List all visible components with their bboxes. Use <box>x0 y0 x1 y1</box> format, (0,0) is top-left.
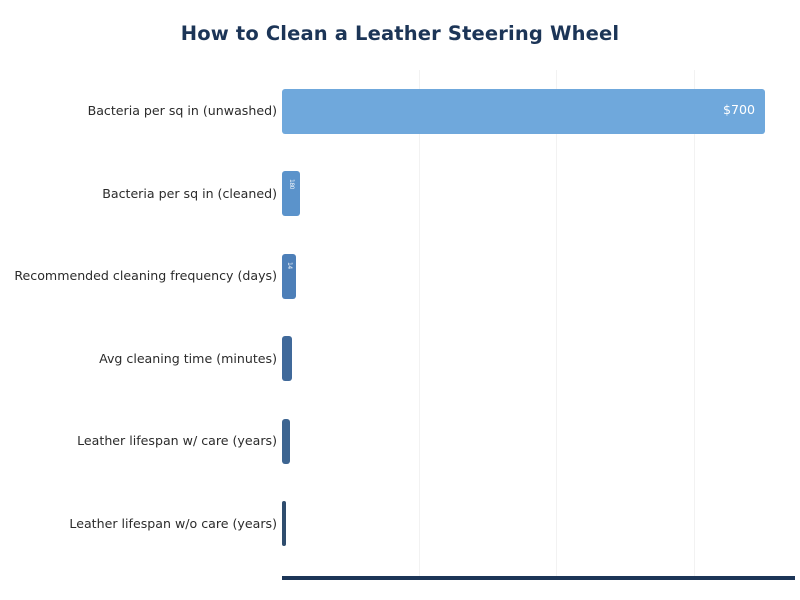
bar[interactable]: 14 <box>282 254 296 299</box>
bar-row: Bacteria per sq in (cleaned)180 <box>0 153 800 236</box>
category-label: Leather lifespan w/o care (years) <box>0 518 277 531</box>
bar-row: Avg cleaning time (minutes) <box>0 318 800 401</box>
bar[interactable] <box>282 501 286 546</box>
bar-chart: How to Clean a Leather Steering Wheel Ba… <box>0 0 800 600</box>
bar-row: Recommended cleaning frequency (days)14 <box>0 235 800 318</box>
bar-value-label: 180 <box>288 179 294 208</box>
bar-row: Leather lifespan w/o care (years) <box>0 483 800 566</box>
category-label: Recommended cleaning frequency (days) <box>0 270 277 283</box>
category-label: Avg cleaning time (minutes) <box>0 353 277 366</box>
x-axis-line <box>282 576 795 580</box>
bar-row: Bacteria per sq in (unwashed)$700 <box>0 70 800 153</box>
bar[interactable] <box>282 419 290 464</box>
bar[interactable] <box>282 336 292 381</box>
chart-title: How to Clean a Leather Steering Wheel <box>0 22 800 45</box>
category-label: Leather lifespan w/ care (years) <box>0 435 277 448</box>
bar-value-label: $700 <box>723 104 755 117</box>
bar[interactable]: $700 <box>282 89 765 134</box>
bar[interactable]: 180 <box>282 171 300 216</box>
category-label: Bacteria per sq in (unwashed) <box>0 105 277 118</box>
category-label: Bacteria per sq in (cleaned) <box>0 188 277 201</box>
bar-row: Leather lifespan w/ care (years) <box>0 400 800 483</box>
bar-value-label: 14 <box>286 262 292 291</box>
